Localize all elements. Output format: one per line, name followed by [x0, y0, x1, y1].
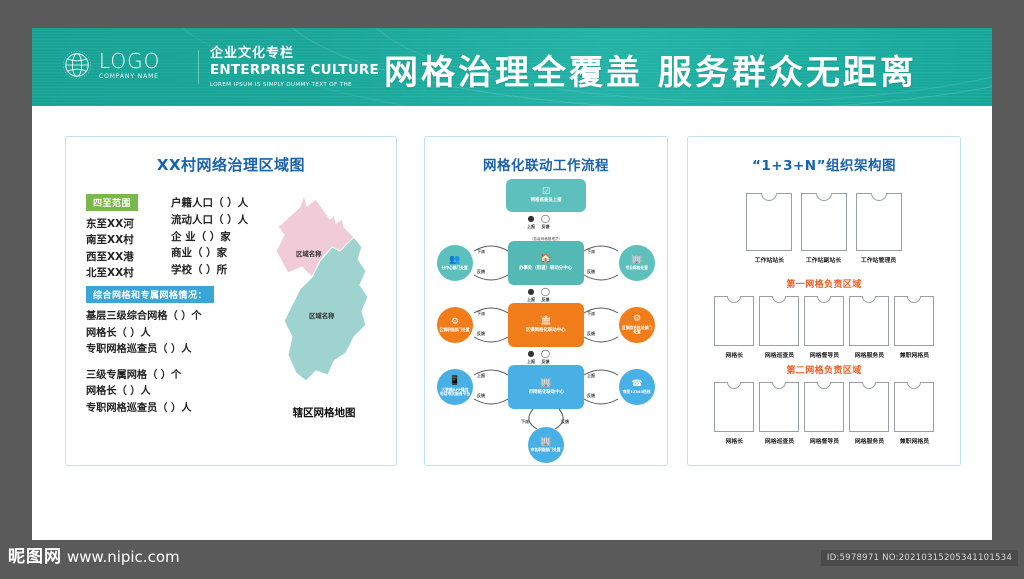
- name-plate: [804, 382, 844, 432]
- org-card: 网格长: [714, 382, 754, 445]
- departments-icon: 🏢: [540, 438, 551, 447]
- org-card: 网格长: [714, 296, 754, 359]
- arc-blue-left: [471, 365, 511, 411]
- label-down-1: 下派: [477, 249, 485, 255]
- link-feedback: ◯ 反馈: [541, 215, 550, 230]
- feedback-icon: ◯: [541, 288, 550, 296]
- map-label-bottom: 区域名称: [309, 311, 335, 320]
- page-title: 网格治理全覆盖 服务群众无距离: [384, 45, 917, 94]
- plate-notch: [907, 296, 921, 303]
- mid-panel-title: 网格化联动工作流程: [425, 154, 667, 174]
- enterprise-cn: 企业文化专栏: [210, 46, 379, 61]
- stat-item: 流动人口（ ）人: [171, 212, 248, 229]
- site-watermark: 昵图网 www.nipic.com: [8, 549, 180, 566]
- footer-bar: 昵图网 www.nipic.com ID:5978971 NO:20210315…: [0, 540, 1024, 579]
- gear-icon: ⚙: [451, 318, 459, 327]
- name-plate: [801, 193, 847, 251]
- stat-item: 户籍人口（ ）人: [171, 195, 248, 212]
- node-blue-bottom: 🏢 市各职能部门处置: [528, 427, 564, 463]
- label-feedback-6: 反馈: [587, 393, 595, 399]
- arc-orange-right: [581, 303, 621, 349]
- enterprise-tagline: LOREM IPSUM IS SIMPLY DUMMY TEXT OF THE: [210, 82, 379, 89]
- label-down-3: 下派: [477, 311, 485, 317]
- map-caption: 辖区网格地图: [262, 405, 386, 420]
- arc-teal-right: [581, 241, 621, 287]
- org-row-3: 第二网格负责区域 网格长 网格巡查员 网格督导员: [688, 363, 960, 445]
- org-cards-row-2: 网格长 网格巡查员 网格督导员 网格服务员: [688, 296, 960, 359]
- label-feedback-2: 反馈: [587, 269, 595, 275]
- org-label: 工作站管理员: [861, 255, 896, 264]
- org-row-3-title: 第二网格负责区域: [688, 363, 960, 376]
- hotline-icon: ☎: [631, 380, 642, 389]
- watermark-cn: 昵图网: [8, 549, 62, 566]
- org-label: 网格长: [725, 436, 743, 445]
- grid-status-tag: 综合网格和专属网格情况：: [86, 286, 214, 303]
- org-label: 兼职网格员: [899, 350, 928, 359]
- name-plate: [894, 382, 934, 432]
- plate-notch: [772, 382, 786, 389]
- org-card: 网格服务员: [849, 382, 889, 445]
- node-blue-left: 📱 大数据APP微信电话市民服务平台: [437, 369, 473, 405]
- org-card: 兼职网格员: [894, 296, 934, 359]
- org-card: 工作站管理员: [856, 193, 902, 264]
- panel-org-chart: “1+3+N”组织架构图 工作站站长 工作站副站长 工: [687, 136, 961, 466]
- link-up: ● 上报: [527, 215, 535, 230]
- name-plate: [894, 296, 934, 346]
- org-row-2-title: 第一网格负责区域: [688, 277, 960, 290]
- node-orange-left: ⚙ 区镇职能部门处置: [437, 307, 473, 343]
- link-pair-top: ● 上报 ◯ 反馈: [527, 215, 550, 230]
- link-pair-lower: ● 上报 ◯ 反馈: [527, 350, 550, 365]
- enterprise-culture-block: 企业文化专栏 ENTERPRISE CULTURE LOREM IPSUM IS…: [210, 46, 379, 89]
- link-feedback: ◯ 反馈: [541, 350, 550, 365]
- org-cards-row-3: 网格长 网格巡查员 网格督导员 网格服务员: [688, 382, 960, 445]
- header-divider: [198, 50, 199, 84]
- plate-notch: [727, 382, 741, 389]
- name-plate: [746, 193, 792, 251]
- label-feedback-3: 反馈: [477, 331, 485, 337]
- plate-notch: [817, 296, 831, 303]
- node-teal-left: 👥 分中心部门处置: [437, 245, 473, 281]
- home-icon: 🏠: [540, 255, 551, 264]
- name-plate: [714, 382, 754, 432]
- link-up: ● 上报: [527, 350, 535, 365]
- stat-item: 企 业（ ）家: [171, 229, 248, 246]
- upload-icon: ●: [528, 215, 535, 223]
- org-card: 网格督导员: [804, 296, 844, 359]
- plate-notch: [816, 193, 832, 201]
- label-feedback-bottom: 反馈: [561, 419, 569, 425]
- feedback-icon: ◯: [541, 215, 550, 223]
- scope-tag: 四至范围: [86, 194, 138, 211]
- org-label: 网格长: [725, 350, 743, 359]
- population-stats: 户籍人口（ ）人 流动人口（ ）人 企 业（ ）家 商业（ ）家 学校（ ）所: [171, 195, 248, 279]
- poster-header: LOGO COMPANY NAME 企业文化专栏 ENTERPRISE CULT…: [32, 28, 992, 106]
- name-plate: [856, 193, 902, 251]
- org-card: 网格巡查员: [759, 296, 799, 359]
- screenshot-root: LOGO COMPANY NAME 企业文化专栏 ENTERPRISE CULT…: [0, 0, 1024, 579]
- plate-notch: [862, 296, 876, 303]
- node-orange-center: 🏛 区镇网格化联动中心: [508, 303, 584, 347]
- mobile-platform-icon: 📱: [449, 377, 460, 386]
- right-panel-title: “1+3+N”组织架构图: [688, 154, 960, 174]
- name-plate: [759, 296, 799, 346]
- poster-board: LOGO COMPANY NAME 企业文化专栏 ENTERPRISE CULT…: [32, 28, 992, 540]
- org-label: 网格督导员: [809, 350, 838, 359]
- panel-region-map: XX村网络治理区域图 四至范围 东至XX河 南至XX村 西至XX港 北至XX村 …: [65, 136, 397, 466]
- feedback-icon: ◯: [541, 350, 550, 358]
- map-label-top: 区域名称: [296, 249, 322, 258]
- upload-icon: ●: [528, 288, 535, 296]
- name-plate: [759, 382, 799, 432]
- report-icon: ☑: [542, 188, 550, 197]
- label-feedback-5: 反馈: [477, 393, 485, 399]
- org-cards-row-1: 工作站站长 工作站副站长 工作站管理员: [688, 193, 960, 264]
- globe-icon: [62, 50, 92, 80]
- org-label: 网格服务员: [854, 436, 883, 445]
- node-teal-right: 🏢 专业网格处置: [619, 245, 655, 281]
- org-card: 网格服务员: [849, 296, 889, 359]
- org-label: 网格巡查员: [764, 350, 793, 359]
- node-orange-right: ⚙ 区镇综合执法部门处置: [619, 307, 655, 343]
- plate-notch: [862, 382, 876, 389]
- plate-notch: [871, 193, 887, 201]
- label-feedback-4: 反馈: [587, 331, 595, 337]
- link-up: ● 上报: [527, 288, 535, 303]
- people-icon: 👥: [449, 256, 460, 265]
- label-down-2: 下派: [587, 249, 595, 255]
- name-plate: [849, 382, 889, 432]
- label-down-4: 下派: [587, 311, 595, 317]
- label-up-5: 上报: [477, 373, 485, 379]
- org-label: 网格督导员: [809, 436, 838, 445]
- link-pair-mid: ● 上报 ◯ 反馈: [527, 288, 550, 303]
- plate-notch: [907, 382, 921, 389]
- org-card: 工作站站长: [746, 193, 792, 264]
- panel-workflow: 网格化联动工作流程 ☑ 网格巡查员上报 ● 上报 ◯: [424, 136, 668, 466]
- city-center-icon: 🏢: [540, 379, 551, 388]
- gear-icon: ⚙: [633, 315, 641, 324]
- org-card: 网格巡查员: [759, 382, 799, 445]
- upload-icon: ●: [528, 350, 535, 358]
- org-label: 工作站副站长: [806, 255, 841, 264]
- logo-text: LOGO: [99, 51, 160, 71]
- plate-notch: [817, 382, 831, 389]
- org-label: 网格服务员: [854, 350, 883, 359]
- node-blue-right: ☎ 市民12345热线: [619, 369, 655, 405]
- node-blue-center: 🏢 市网格化联动中心: [508, 365, 584, 409]
- name-plate: [849, 296, 889, 346]
- plate-notch: [727, 296, 741, 303]
- name-plate: [804, 296, 844, 346]
- logo-subtext: COMPANY NAME: [99, 74, 160, 80]
- org-row-2: 第一网格负责区域 网格长 网格巡查员 网格督导员: [688, 277, 960, 359]
- org-label: 工作站站长: [754, 255, 783, 264]
- stat-item: 商业（ ）家: [171, 245, 248, 262]
- region-map-graphic: 区域名称 区域名称: [262, 185, 386, 435]
- link-feedback: ◯ 反馈: [541, 288, 550, 303]
- node-teal-center: 🏠 办事处（街道）联动分中心: [508, 241, 584, 285]
- image-id-badge: ID:5978971 NO:20210315205341101534: [821, 550, 1018, 566]
- map-svg: [262, 185, 386, 435]
- arc-blue-right: [581, 365, 621, 411]
- org-label: 兼职网格员: [899, 436, 928, 445]
- name-plate: [714, 296, 754, 346]
- company-logo: LOGO COMPANY NAME: [62, 50, 160, 80]
- plate-notch: [761, 193, 777, 201]
- poster-content: XX村网络治理区域图 四至范围 东至XX河 南至XX村 西至XX港 北至XX村 …: [32, 106, 992, 540]
- label-feedback-1: 反馈: [477, 269, 485, 275]
- label-up-6: 上报: [587, 373, 595, 379]
- left-panel-title: XX村网络治理区域图: [66, 154, 396, 175]
- org-label: 网格巡查员: [764, 436, 793, 445]
- org-card: 兼职网格员: [894, 382, 934, 445]
- stat-item: 学校（ ）所: [171, 262, 248, 279]
- watermark-url: www.nipic.com: [67, 550, 180, 565]
- label-down-bottom: 下派: [521, 419, 529, 425]
- building-icon: 🏢: [631, 256, 642, 265]
- org-card: 网格督导员: [804, 382, 844, 445]
- workflow-diagram: ☑ 网格巡查员上报 ● 上报 ◯ 反馈 （各级网格: [425, 179, 667, 459]
- org-card: 工作站副站长: [801, 193, 847, 264]
- arc-orange-left: [471, 303, 511, 349]
- arc-teal-left: [471, 241, 511, 287]
- node-grid-inspector-report: ☑ 网格巡查员上报: [506, 179, 586, 212]
- enterprise-en: ENTERPRISE CULTURE: [210, 63, 379, 79]
- government-icon: 🏛: [540, 317, 551, 326]
- plate-notch: [772, 296, 786, 303]
- org-row-1: 工作站站长 工作站副站长 工作站管理员: [688, 187, 960, 264]
